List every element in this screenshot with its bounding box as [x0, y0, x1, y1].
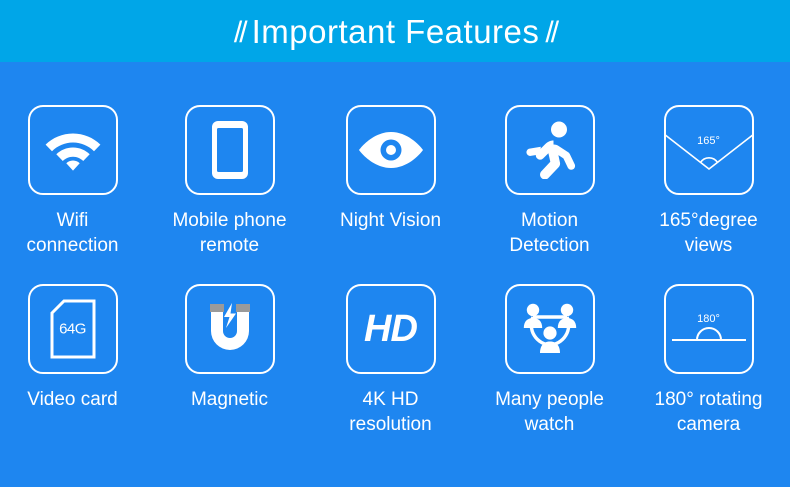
feature-item-video-card[interactable]: 64G Video card: [0, 284, 154, 437]
features-row-1: Wifi connection Mobile phone remote: [0, 105, 790, 258]
feature-item-magnetic[interactable]: Magnetic: [148, 284, 311, 437]
features-grid: Wifi connection Mobile phone remote: [0, 62, 790, 487]
page-title-text: Important Features: [252, 13, 540, 50]
feature-label: Video card: [27, 387, 118, 412]
rotate-180-icon-box: 180°: [664, 284, 754, 374]
wifi-icon: [45, 127, 101, 173]
features-row-2: 64G Video card Magnetic: [0, 284, 790, 437]
mobile-phone-icon: [211, 120, 249, 180]
eye-icon: [358, 130, 424, 170]
people-group-icon-box: [505, 284, 595, 374]
feature-item-mobile-phone[interactable]: Mobile phone remote: [148, 105, 311, 258]
feature-item-165-degree-views[interactable]: 165° 165°degree views: [627, 105, 790, 258]
feature-label: 180° rotating camera: [655, 387, 763, 437]
feature-label: Magnetic: [191, 387, 268, 412]
magnet-icon-box: [185, 284, 275, 374]
feature-label: Wifi connection: [27, 208, 119, 258]
sd-card-capacity-badge: 64G: [59, 321, 86, 338]
feature-label: Night Vision: [340, 208, 441, 233]
mobile-phone-icon-box: [185, 105, 275, 195]
slash-right-decoration: //: [545, 18, 556, 48]
feature-label: Motion Detection: [509, 208, 589, 258]
view-angle-165-icon-box: 165°: [664, 105, 754, 195]
eye-icon-box: [346, 105, 436, 195]
feature-item-180-rotating-camera[interactable]: 180° 180° rotating camera: [627, 284, 790, 437]
feature-item-wifi[interactable]: Wifi connection: [0, 105, 154, 258]
rotate-180-icon: [664, 284, 754, 374]
page-title: //Important Features//: [234, 15, 556, 48]
hd-icon: HD: [364, 310, 417, 348]
feature-label: 165°degree views: [659, 208, 757, 258]
page-header: //Important Features//: [0, 0, 790, 62]
running-person-icon-box: [505, 105, 595, 195]
feature-item-hd-resolution[interactable]: HD 4K HD resolution: [309, 284, 472, 437]
magnet-icon: [201, 301, 259, 357]
feature-label: Many people watch: [495, 387, 604, 437]
feature-label: Mobile phone remote: [172, 208, 286, 258]
sd-card-icon-box: 64G: [28, 284, 118, 374]
running-person-icon: [523, 121, 577, 179]
slash-left-decoration: //: [234, 18, 245, 48]
feature-item-night-vision[interactable]: Night Vision: [309, 105, 472, 258]
feature-label: 4K HD resolution: [349, 387, 431, 437]
feature-item-many-people-watch[interactable]: Many people watch: [468, 284, 631, 437]
feature-item-motion-detection[interactable]: Motion Detection: [468, 105, 631, 258]
people-group-icon: [522, 301, 578, 357]
feature-poster: //Important Features//: [0, 0, 790, 487]
wifi-icon-box: [28, 105, 118, 195]
angle-badge-165: 165°: [697, 135, 720, 147]
view-angle-165-icon: [664, 105, 754, 195]
angle-badge-180: 180°: [697, 313, 720, 325]
hd-icon-box: HD: [346, 284, 436, 374]
